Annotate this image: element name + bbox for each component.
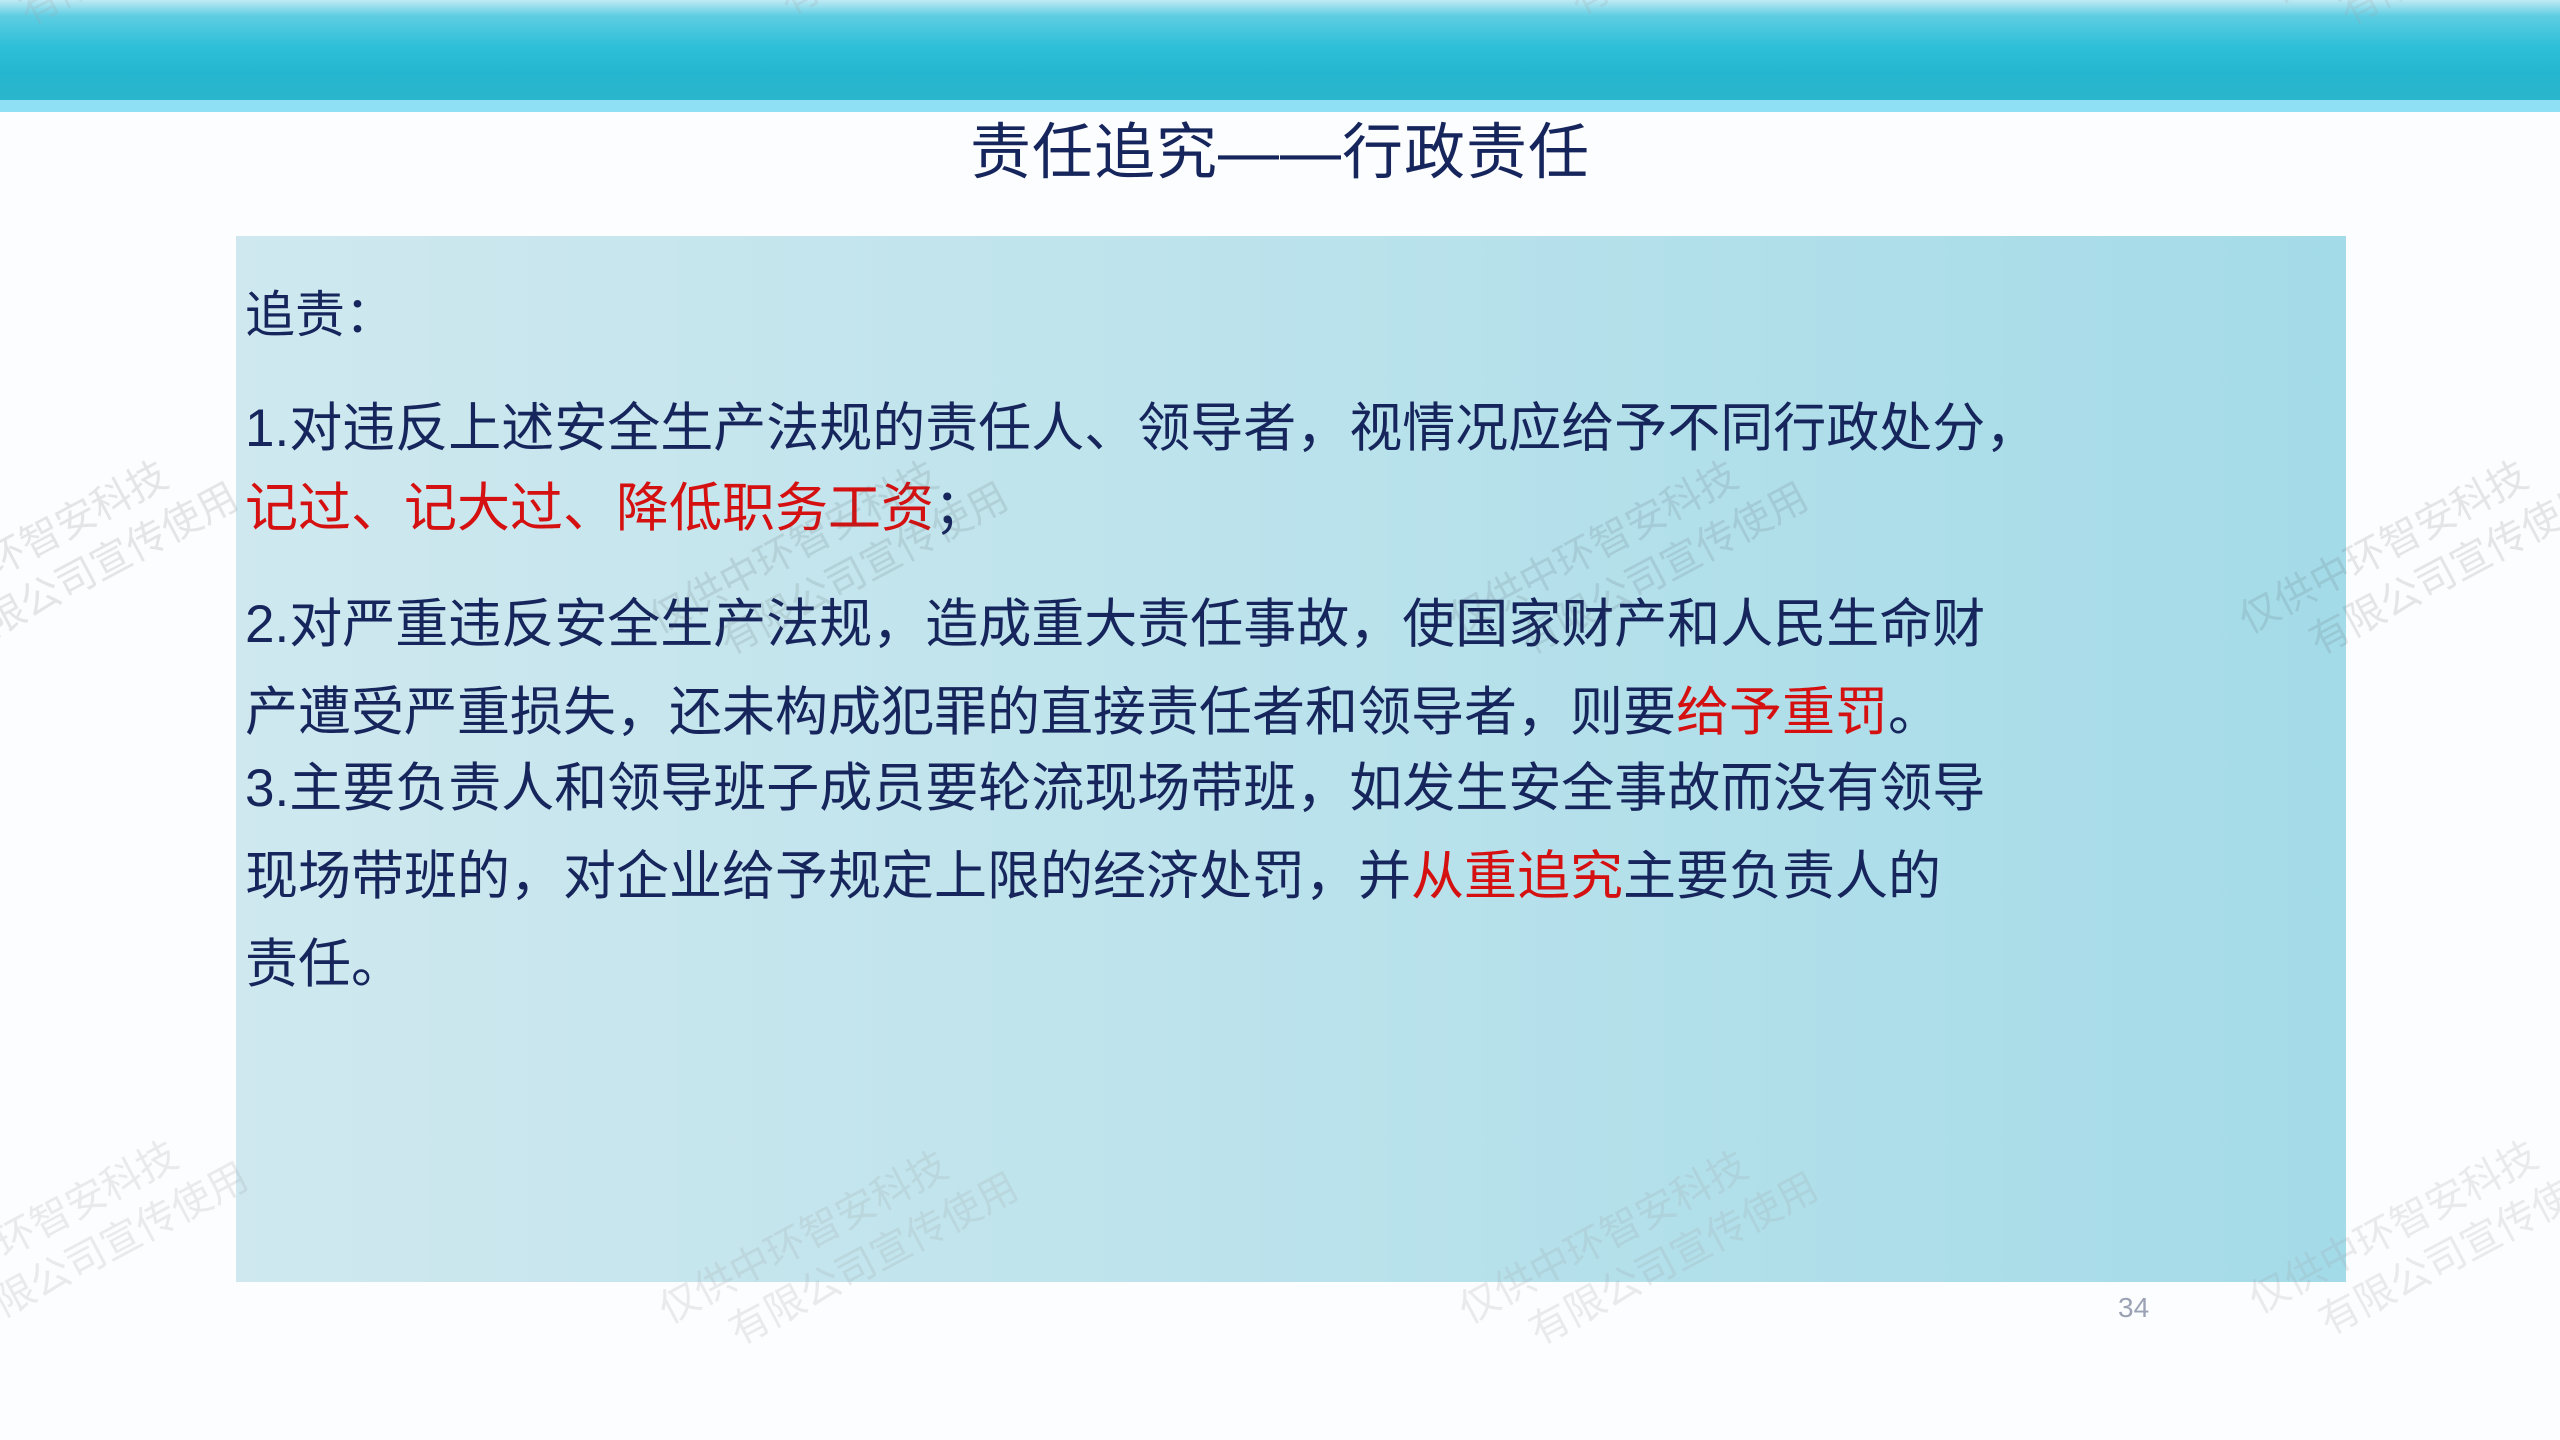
watermark: 仅供中环智安科技有限公司宣传使用: [0, 425, 247, 691]
page-number: 34: [2118, 1292, 2149, 1324]
item2-highlight: 给予重罚: [1676, 683, 1888, 742]
item1-line2: 记过、记大过、降低职务工资；: [245, 462, 2455, 542]
item2-line2: 产遭受严重损失，还未构成犯罪的直接责任者和领导者，则要给予重罚。: [245, 658, 2455, 746]
watermark: 仅供中环智安科技有限公司宣传使用: [0, 1105, 257, 1371]
item1-line1: 1.对违反上述安全生产法规的责任人、领导者，视情况应给予不同行政处分，: [245, 348, 2455, 462]
header-banner: [0, 0, 2560, 110]
page-title: 责任追究——行政责任: [0, 113, 2560, 191]
item2-line1: 2.对严重违反安全生产法规，造成重大责任事故，使国家财产和人民生命财: [245, 542, 2455, 658]
header-banner-gradient: [0, 0, 2560, 100]
item3-line3: 责任。: [245, 910, 2455, 998]
item3-highlight: 从重追究: [1411, 847, 1623, 906]
item3-line1: 3.主要负责人和领导班子成员要轮流现场带班，如发生安全事故而没有领导: [245, 746, 2455, 822]
slide-canvas: 责任追究——行政责任 追责： 1.对违反上述安全生产法规的责任人、领导者，视情况…: [0, 0, 2560, 1440]
item1-line2-tail: ；: [934, 479, 987, 538]
item3-line2-head: 现场带班的，对企业给予规定上限的经济处罚，并: [245, 847, 1411, 906]
item1-highlight: 记过、记大过、降低职务工资: [245, 479, 934, 538]
item3-line2: 现场带班的，对企业给予规定上限的经济处罚，并从重追究主要负责人的: [245, 822, 2455, 910]
item2-line2-tail: 。: [1888, 683, 1941, 742]
lead-line: 追责：: [245, 236, 2455, 348]
header-banner-underline: [0, 100, 2560, 112]
item2-line2-head: 产遭受严重损失，还未构成犯罪的直接责任者和领导者，则要: [245, 683, 1676, 742]
item3-line2-tail: 主要负责人的: [1623, 847, 1941, 906]
content-body: 追责： 1.对违反上述安全生产法规的责任人、领导者，视情况应给予不同行政处分， …: [245, 236, 2455, 998]
